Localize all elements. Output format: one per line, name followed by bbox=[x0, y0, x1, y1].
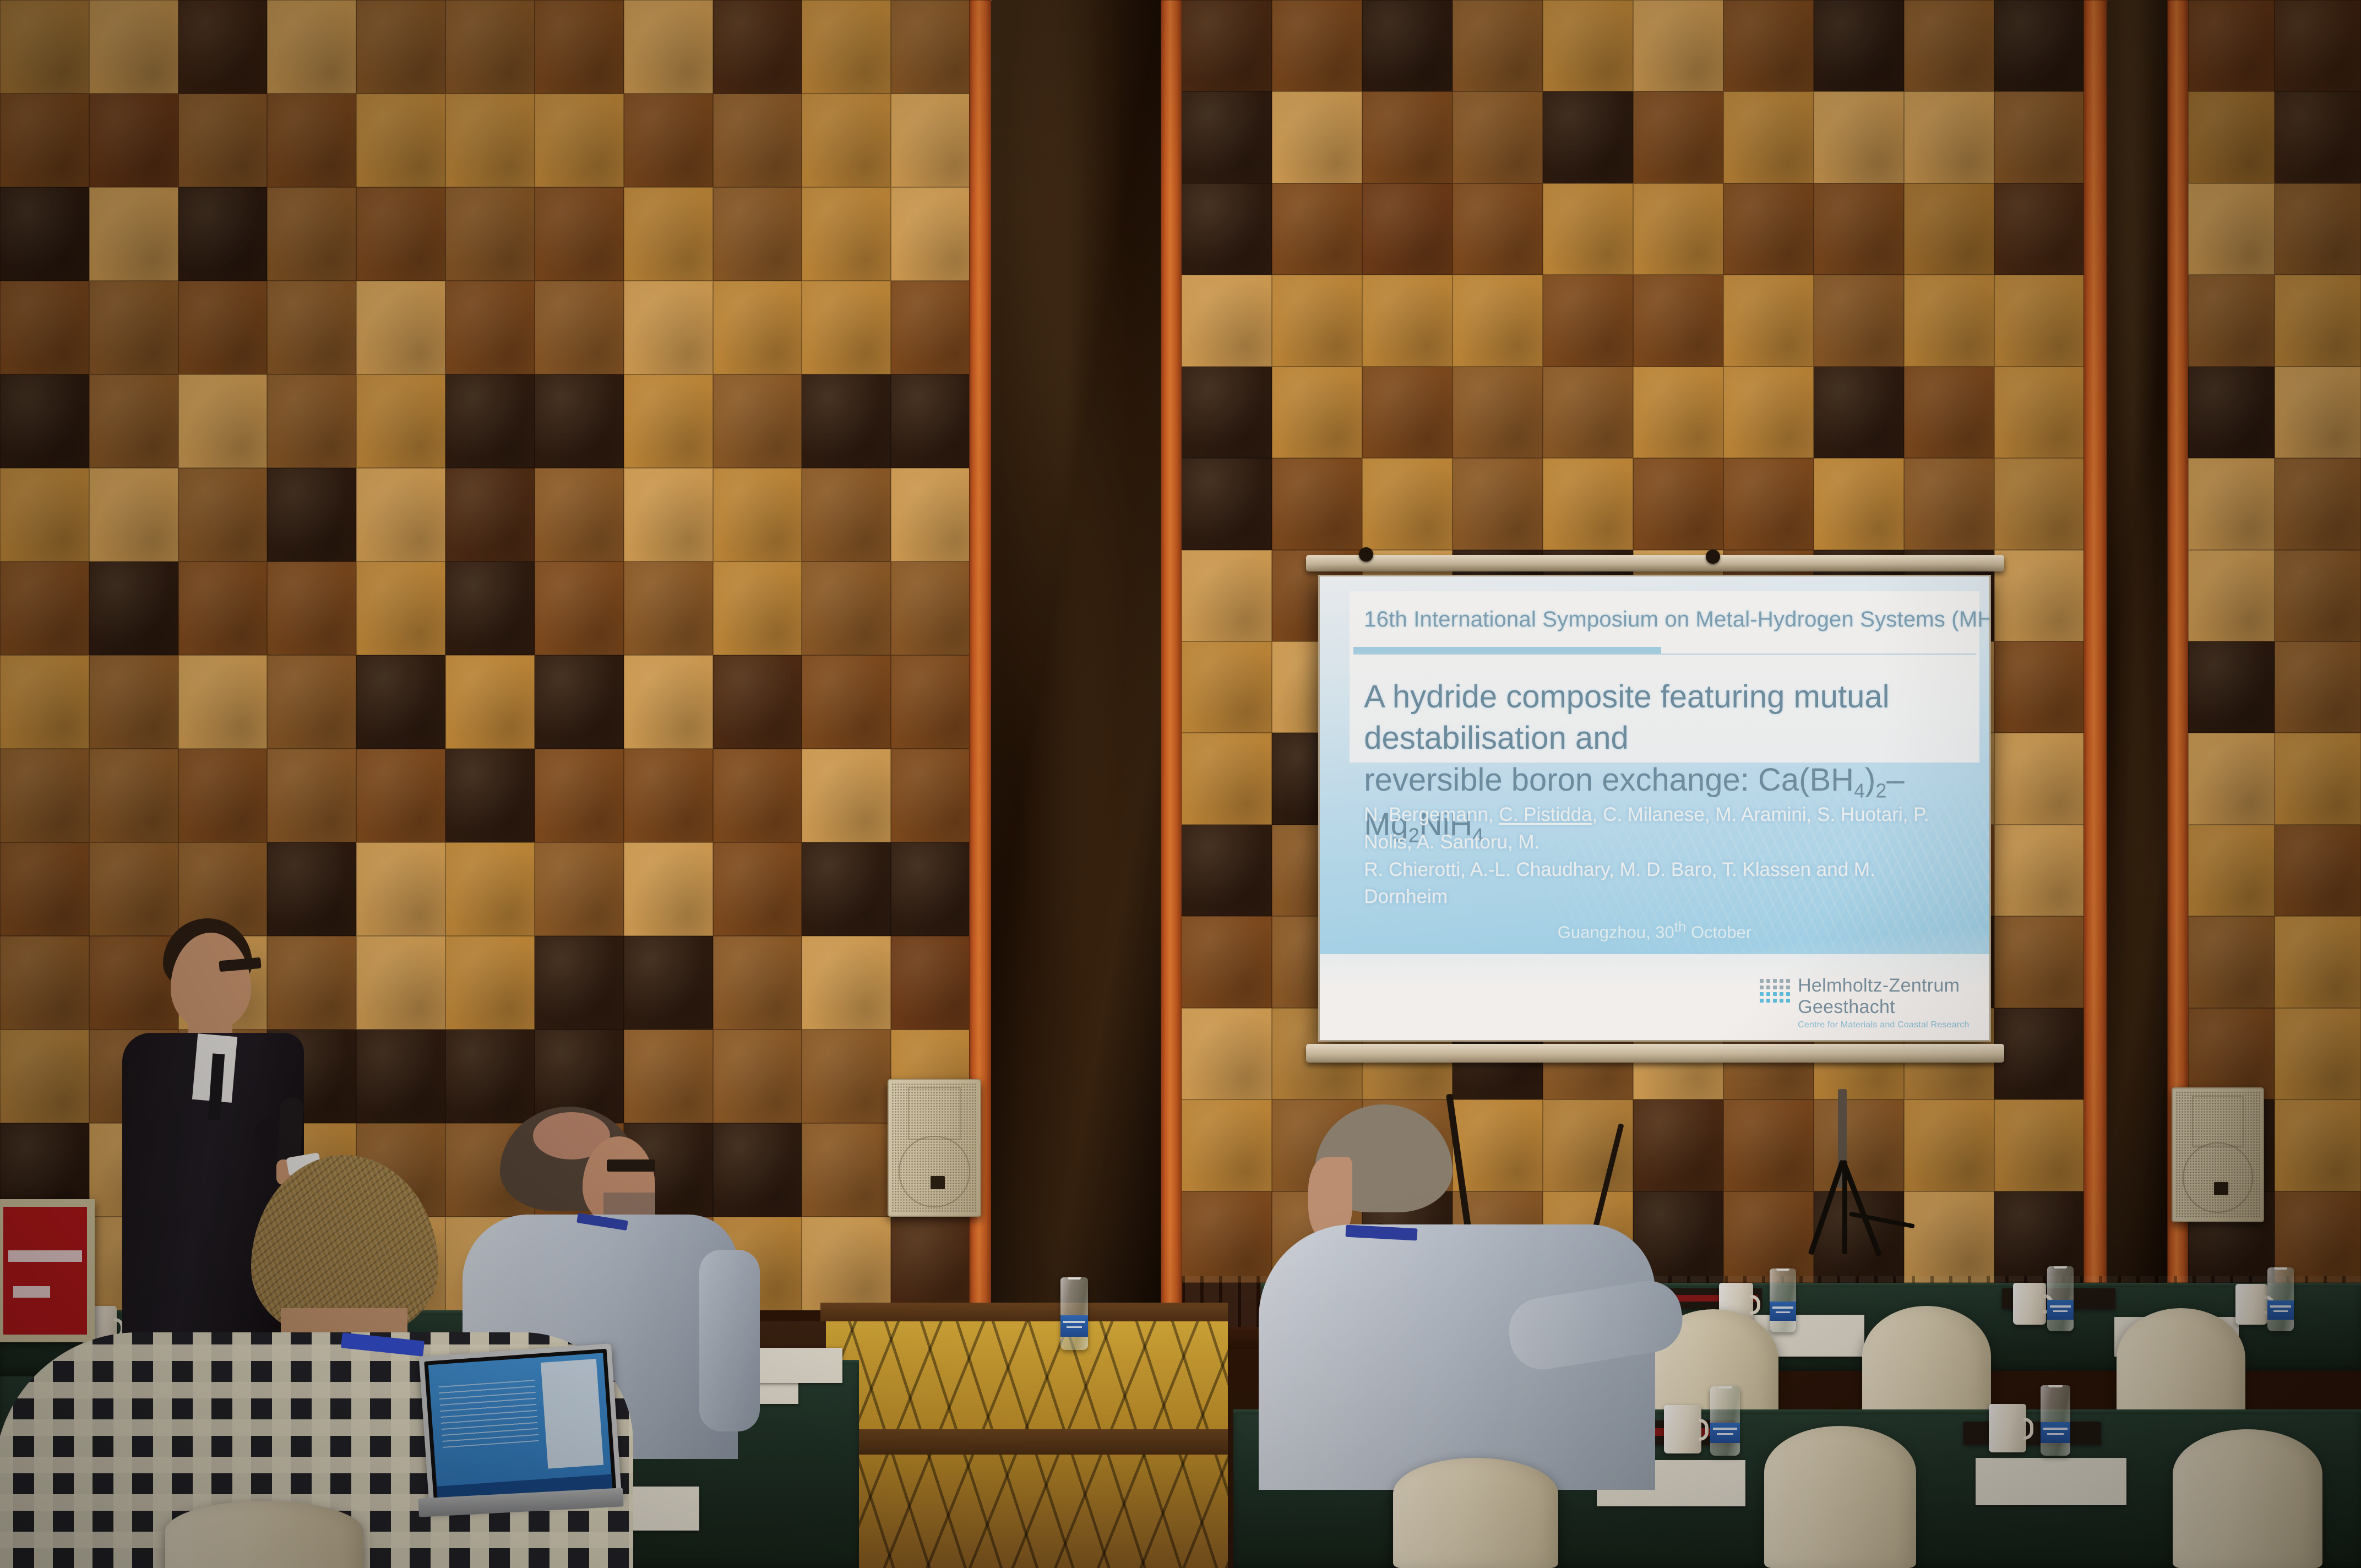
wall-tile bbox=[535, 468, 624, 562]
wall-tile bbox=[356, 374, 445, 468]
notepad bbox=[1976, 1458, 2126, 1505]
water-bottle bbox=[1710, 1386, 1740, 1456]
wall-tile bbox=[1272, 91, 1362, 183]
wall-tile bbox=[445, 187, 535, 281]
logo-dot bbox=[1786, 992, 1790, 996]
wall-tile bbox=[1994, 91, 2085, 183]
wall-tile bbox=[891, 0, 980, 94]
wall-tile bbox=[891, 468, 980, 562]
marble-pilaster-center bbox=[991, 0, 1162, 1321]
wall-tile bbox=[267, 468, 356, 562]
wood-trim-center bbox=[1161, 0, 1183, 1321]
wall-tile bbox=[891, 187, 980, 281]
logo-dot bbox=[1780, 999, 1783, 1003]
wall-tile bbox=[802, 749, 891, 842]
wall-tile bbox=[891, 842, 980, 936]
wall-tile bbox=[356, 562, 445, 655]
wall-tile bbox=[624, 749, 713, 842]
wall-tile bbox=[178, 468, 268, 562]
water-bottle bbox=[1060, 1277, 1088, 1350]
wall-tile bbox=[2275, 367, 2361, 458]
slide-title-line-2-prefix: reversible boron exchange: Ca(BH bbox=[1364, 762, 1854, 798]
wall-tile bbox=[802, 187, 891, 281]
wall-tile bbox=[445, 0, 535, 94]
wall-tile bbox=[1633, 91, 1723, 183]
wall-tile bbox=[1633, 367, 1723, 458]
wall-tile bbox=[178, 562, 268, 655]
wall-tile bbox=[1452, 367, 1543, 458]
wall-tile bbox=[624, 936, 713, 1030]
slide-title-line-1: A hydride composite featuring mutual des… bbox=[1364, 679, 1889, 756]
wall-tile bbox=[1633, 0, 1723, 91]
wall-tile bbox=[1452, 458, 1543, 549]
wall-tile bbox=[891, 374, 980, 468]
logo-dot bbox=[1780, 986, 1783, 989]
wall-tile bbox=[624, 468, 713, 562]
wall-tile bbox=[2275, 825, 2361, 916]
wall-tile bbox=[445, 655, 535, 749]
wall-tile bbox=[1182, 183, 1272, 275]
wall-tile bbox=[713, 936, 802, 1030]
wall-tile bbox=[713, 562, 802, 655]
wall-tile bbox=[535, 281, 624, 374]
wall-tile bbox=[891, 936, 980, 1030]
wall-tile bbox=[535, 749, 624, 842]
logo-dot bbox=[1766, 986, 1770, 989]
screen-tripod-stand bbox=[1756, 1096, 1938, 1261]
wall-tile bbox=[1814, 275, 1904, 366]
wall-tile bbox=[445, 281, 535, 374]
wall-tile bbox=[1182, 916, 1272, 1008]
wall-tile bbox=[178, 655, 268, 749]
wall-tile bbox=[2188, 550, 2275, 641]
wall-tile bbox=[356, 655, 445, 749]
helmholtz-logo: Helmholtz-Zentrum Geesthacht Centre for … bbox=[1760, 975, 1969, 1030]
wall-tile bbox=[2275, 458, 2361, 549]
author-list-start: N. Bergemann, bbox=[1364, 804, 1499, 825]
wall-tile bbox=[713, 281, 802, 374]
wall-tile bbox=[713, 0, 802, 94]
wall-tile bbox=[2188, 825, 2275, 916]
laptop-side-panel[interactable] bbox=[540, 1359, 603, 1469]
logo-dot bbox=[1786, 999, 1790, 1003]
wall-tile bbox=[802, 374, 891, 468]
wall-tile bbox=[89, 655, 178, 749]
wall-tile bbox=[2275, 1099, 2361, 1191]
wall-tile bbox=[1994, 733, 2085, 824]
wall-tile bbox=[1182, 641, 1272, 733]
logo-dot bbox=[1773, 999, 1777, 1003]
wall-tile bbox=[1272, 367, 1362, 458]
logo-dot bbox=[1760, 986, 1764, 989]
carpet-border-lower bbox=[820, 1429, 1228, 1455]
wall-tile bbox=[356, 94, 445, 187]
wall-tile bbox=[267, 0, 356, 94]
wall-tile bbox=[2275, 1008, 2361, 1099]
wall-tile bbox=[445, 374, 535, 468]
wall-tile bbox=[1994, 1008, 2085, 1099]
wall-tile bbox=[802, 0, 891, 94]
screen-hook-right bbox=[1706, 549, 1720, 564]
wall-tile bbox=[1723, 0, 1814, 91]
wall-tile bbox=[1272, 183, 1362, 275]
water-bottle bbox=[2267, 1267, 2294, 1331]
wall-tile bbox=[2188, 1008, 2275, 1099]
coffee-mug bbox=[1989, 1404, 2026, 1452]
wall-tile bbox=[89, 0, 178, 94]
wall-tile bbox=[356, 281, 445, 374]
logo-dot bbox=[1760, 999, 1764, 1003]
wall-tile bbox=[356, 468, 445, 562]
wall-tile bbox=[713, 655, 802, 749]
logo-wordmark: Helmholtz-Zentrum Geesthacht Centre for … bbox=[1798, 975, 1969, 1030]
logo-dot bbox=[1766, 992, 1770, 996]
wall-tile bbox=[535, 842, 624, 936]
wall-tile bbox=[1182, 733, 1272, 824]
chair bbox=[165, 1501, 363, 1568]
wall-tile bbox=[89, 562, 178, 655]
wall-tile bbox=[0, 374, 89, 468]
wall-tile bbox=[89, 281, 178, 374]
marble-pilaster-right bbox=[2107, 0, 2168, 1283]
wall-tile bbox=[0, 468, 89, 562]
wall-tile bbox=[445, 936, 535, 1030]
wall-tile bbox=[624, 187, 713, 281]
wall-tile bbox=[1182, 0, 1272, 91]
wall-tile bbox=[891, 749, 980, 842]
wall-tile bbox=[0, 1030, 89, 1123]
wall-tile bbox=[1723, 367, 1814, 458]
wall-tile bbox=[1182, 367, 1272, 458]
wall-tile bbox=[1994, 1099, 2085, 1191]
chair bbox=[2173, 1429, 2322, 1568]
venue-month: October bbox=[1686, 922, 1751, 941]
wall-tile bbox=[1904, 0, 1994, 91]
wall-loudspeaker-right bbox=[2172, 1087, 2264, 1222]
wall-tile bbox=[1543, 91, 1633, 183]
wall-tile bbox=[1994, 916, 2085, 1008]
wall-tile bbox=[891, 281, 980, 374]
wall-tile bbox=[2275, 275, 2361, 366]
wall-tile bbox=[802, 468, 891, 562]
wall-tile bbox=[267, 281, 356, 374]
wall-tile bbox=[0, 936, 89, 1030]
wall-tile bbox=[802, 655, 891, 749]
wall-tile bbox=[2275, 183, 2361, 275]
laptop[interactable] bbox=[419, 1343, 622, 1511]
wall-tile bbox=[1723, 275, 1814, 366]
wall-tile bbox=[1994, 0, 2085, 91]
wall-tile bbox=[1994, 825, 2085, 916]
wall-tile bbox=[267, 94, 356, 187]
wall-tile bbox=[0, 0, 89, 94]
wall-tile bbox=[2188, 91, 2275, 183]
wall-tile bbox=[1723, 183, 1814, 275]
wall-loudspeaker-left bbox=[888, 1079, 981, 1217]
wall-tile bbox=[802, 1217, 891, 1310]
wall-tile bbox=[1814, 91, 1904, 183]
projection-screen-assembly: 16th International Symposium on Metal-Hy… bbox=[1306, 555, 2004, 1089]
slide-thin-rule bbox=[1353, 654, 1976, 655]
wall-tile bbox=[1362, 367, 1452, 458]
coffee-mug bbox=[2013, 1283, 2046, 1325]
wall-tile bbox=[0, 655, 89, 749]
logo-dot bbox=[1760, 992, 1764, 996]
wall-tile bbox=[1633, 183, 1723, 275]
wall-tile bbox=[1543, 367, 1633, 458]
wall-tile bbox=[2188, 733, 2275, 824]
presenting-author: C. Pistidda bbox=[1499, 804, 1592, 825]
venue-ordinal-suffix: th bbox=[1674, 919, 1687, 935]
wall-tile bbox=[1994, 275, 2085, 366]
wall-tile bbox=[2275, 641, 2361, 733]
logo-dot bbox=[1786, 979, 1790, 983]
logo-dot bbox=[1766, 979, 1770, 983]
wall-tile bbox=[356, 0, 445, 94]
wall-tile bbox=[1452, 275, 1543, 366]
wall-tile bbox=[535, 0, 624, 94]
wall-tile bbox=[2188, 458, 2275, 549]
wall-tile bbox=[713, 468, 802, 562]
wall-tile bbox=[178, 374, 268, 468]
wall-tile bbox=[2188, 367, 2275, 458]
wall-tile bbox=[802, 842, 891, 936]
water-bottle bbox=[1770, 1268, 1796, 1332]
conference-room-scene: 16th International Symposium on Metal-Hy… bbox=[0, 0, 2361, 1568]
wall-tile bbox=[267, 655, 356, 749]
venue-city-day: Guangzhou, 30 bbox=[1558, 922, 1674, 941]
wall-tile bbox=[89, 749, 178, 842]
wall-tile bbox=[1904, 183, 1994, 275]
slide-title-mid: ) bbox=[1865, 762, 1875, 798]
wall-tile bbox=[891, 1217, 980, 1310]
wall-tile bbox=[1904, 91, 1994, 183]
wall-tile bbox=[445, 468, 535, 562]
wall-tile bbox=[2188, 0, 2275, 91]
water-bottle bbox=[2047, 1266, 2074, 1331]
wall-tile bbox=[1994, 550, 2085, 641]
person-attendee-center bbox=[1211, 1104, 1707, 1490]
wall-tile bbox=[1814, 458, 1904, 549]
wall-tile bbox=[1272, 275, 1362, 366]
wall-tile bbox=[1272, 458, 1362, 549]
wall-tile bbox=[267, 374, 356, 468]
wall-tile bbox=[802, 562, 891, 655]
wall-tile bbox=[2188, 916, 2275, 1008]
wall-tile bbox=[1633, 275, 1723, 366]
wall-tile bbox=[178, 281, 268, 374]
wall-tile bbox=[1362, 0, 1452, 91]
wall-tile bbox=[445, 749, 535, 842]
wall-tile bbox=[356, 749, 445, 842]
wall-tile bbox=[535, 936, 624, 1030]
wall-tile bbox=[1362, 275, 1452, 366]
wall-tile bbox=[1182, 1008, 1272, 1099]
wall-tile bbox=[1182, 550, 1272, 641]
logo-line-1: Helmholtz-Zentrum bbox=[1798, 975, 1969, 996]
logo-dot bbox=[1773, 979, 1777, 983]
wall-tile bbox=[0, 187, 89, 281]
logo-dot bbox=[1773, 992, 1777, 996]
wall-tile bbox=[1543, 183, 1633, 275]
wall-tile bbox=[178, 749, 268, 842]
wood-trim-right bbox=[2083, 0, 2108, 1283]
wall-tile bbox=[2188, 641, 2275, 733]
author-list-line-2: R. Chierotti, A.-L. Chaudhary, M. D. Bar… bbox=[1364, 859, 1875, 908]
wall-tile bbox=[1543, 0, 1633, 91]
laptop-text-rows bbox=[438, 1380, 539, 1452]
wall-tile bbox=[713, 374, 802, 468]
wall-tile bbox=[1994, 641, 2085, 733]
wall-tile bbox=[891, 562, 980, 655]
wall-tile bbox=[1182, 275, 1272, 366]
wall-tile bbox=[445, 94, 535, 187]
slide-venue-date: Guangzhou, 30th October bbox=[1320, 919, 1989, 942]
wall-tile bbox=[2275, 916, 2361, 1008]
wall-tile bbox=[0, 94, 89, 187]
wall-tile bbox=[624, 842, 713, 936]
wall-tile bbox=[713, 187, 802, 281]
chair bbox=[1393, 1458, 1558, 1568]
wall-tile bbox=[1452, 91, 1543, 183]
wall-tile bbox=[1723, 91, 1814, 183]
wall-tile bbox=[802, 936, 891, 1030]
wall-tile bbox=[891, 94, 980, 187]
laptop-screen[interactable] bbox=[424, 1349, 616, 1506]
wall-tile bbox=[2275, 550, 2361, 641]
wall-tile bbox=[624, 0, 713, 94]
screen-bottom-bar bbox=[1306, 1044, 2004, 1063]
wall-tile bbox=[1723, 458, 1814, 549]
wall-tile bbox=[624, 281, 713, 374]
logo-dot-grid-icon bbox=[1760, 975, 1790, 1003]
wall-tile bbox=[2275, 733, 2361, 824]
wall-tile bbox=[0, 749, 89, 842]
wall-tile bbox=[89, 374, 178, 468]
wall-tile bbox=[2188, 183, 2275, 275]
wall-tile bbox=[445, 562, 535, 655]
wall-tile bbox=[1272, 0, 1362, 91]
wall-tile bbox=[89, 468, 178, 562]
wall-tile bbox=[1814, 0, 1904, 91]
logo-dot bbox=[1773, 986, 1777, 989]
wall-tile bbox=[802, 94, 891, 187]
wall-tile bbox=[802, 1123, 891, 1217]
wall-tile bbox=[1362, 91, 1452, 183]
wall-tile bbox=[1904, 458, 1994, 549]
wall-tile bbox=[267, 187, 356, 281]
wall-tile bbox=[178, 187, 268, 281]
wall-tile bbox=[1994, 367, 2085, 458]
logo-dot bbox=[1786, 986, 1790, 989]
wall-tile bbox=[1362, 458, 1452, 549]
wall-tile bbox=[1633, 458, 1723, 549]
logo-dot bbox=[1780, 992, 1783, 996]
slide-title-sub-1: 4 bbox=[1854, 779, 1865, 802]
slide-accent-rule bbox=[1353, 647, 1661, 654]
projection-screen-surface: 16th International Symposium on Metal-Hy… bbox=[1318, 575, 1991, 1042]
attendee-bearded-arm bbox=[699, 1250, 760, 1431]
wall-tile bbox=[356, 187, 445, 281]
wall-tile bbox=[624, 655, 713, 749]
logo-tagline: Centre for Materials and Coastal Researc… bbox=[1798, 1020, 1969, 1030]
screen-top-bar bbox=[1306, 555, 2004, 571]
wall-tile bbox=[535, 187, 624, 281]
wall-tile bbox=[445, 842, 535, 936]
wall-tile bbox=[1543, 458, 1633, 549]
wall-tile bbox=[535, 374, 624, 468]
wall-tile bbox=[802, 1030, 891, 1123]
wall-tile bbox=[891, 655, 980, 749]
wall-tile bbox=[1994, 183, 2085, 275]
wall-tile bbox=[178, 0, 268, 94]
wall-tile bbox=[713, 842, 802, 936]
wall-tile bbox=[1814, 183, 1904, 275]
laptop-application-window[interactable] bbox=[428, 1353, 613, 1501]
logo-dot bbox=[1760, 979, 1764, 983]
wall-tile bbox=[1543, 275, 1633, 366]
wall-tile bbox=[1182, 458, 1272, 549]
wall-tile bbox=[624, 562, 713, 655]
wall-tile bbox=[1452, 0, 1543, 91]
logo-dot bbox=[1766, 999, 1770, 1003]
wall-tile bbox=[1182, 825, 1272, 916]
slide-eyebrow-text: 16th International Symposium on Metal-Hy… bbox=[1364, 607, 1969, 632]
wall-tile bbox=[267, 749, 356, 842]
wall-tile bbox=[89, 94, 178, 187]
logo-line-2: Geesthacht bbox=[1798, 997, 1969, 1017]
wall-tile bbox=[624, 374, 713, 468]
wall-tile bbox=[1904, 367, 1994, 458]
wall-tile bbox=[1814, 367, 1904, 458]
wall-tile bbox=[624, 94, 713, 187]
wall-tile bbox=[1452, 183, 1543, 275]
wall-tile bbox=[178, 94, 268, 187]
wall-tile bbox=[1904, 275, 1994, 366]
framed-conference-poster bbox=[0, 1199, 95, 1342]
water-bottle bbox=[2041, 1385, 2070, 1456]
wall-tile bbox=[2188, 275, 2275, 366]
wall-tile bbox=[267, 562, 356, 655]
wall-tile bbox=[2275, 0, 2361, 91]
wall-tile bbox=[713, 94, 802, 187]
presentation-slide: 16th International Symposium on Metal-Hy… bbox=[1320, 576, 1989, 1040]
wall-tile bbox=[1994, 458, 2085, 549]
wall-tile bbox=[1362, 183, 1452, 275]
wall-tile bbox=[535, 94, 624, 187]
wall-tile bbox=[802, 281, 891, 374]
wall-tile bbox=[1182, 91, 1272, 183]
wall-tile bbox=[0, 842, 89, 936]
coffee-mug bbox=[2235, 1284, 2267, 1325]
wall-tile bbox=[0, 281, 89, 374]
wall-tile bbox=[535, 655, 624, 749]
wall-tile bbox=[89, 187, 178, 281]
slide-title-sub-2: 2 bbox=[1875, 779, 1886, 802]
wall-tile bbox=[0, 562, 89, 655]
wall-tile bbox=[2275, 91, 2361, 183]
logo-dot bbox=[1780, 979, 1783, 983]
screen-hook-left bbox=[1359, 547, 1373, 562]
chair bbox=[1764, 1426, 1916, 1568]
wall-tile bbox=[535, 562, 624, 655]
slide-author-list: N. Bergemann, C. Pistidda, C. Milanese, … bbox=[1364, 801, 1962, 911]
wall-tile bbox=[713, 749, 802, 842]
